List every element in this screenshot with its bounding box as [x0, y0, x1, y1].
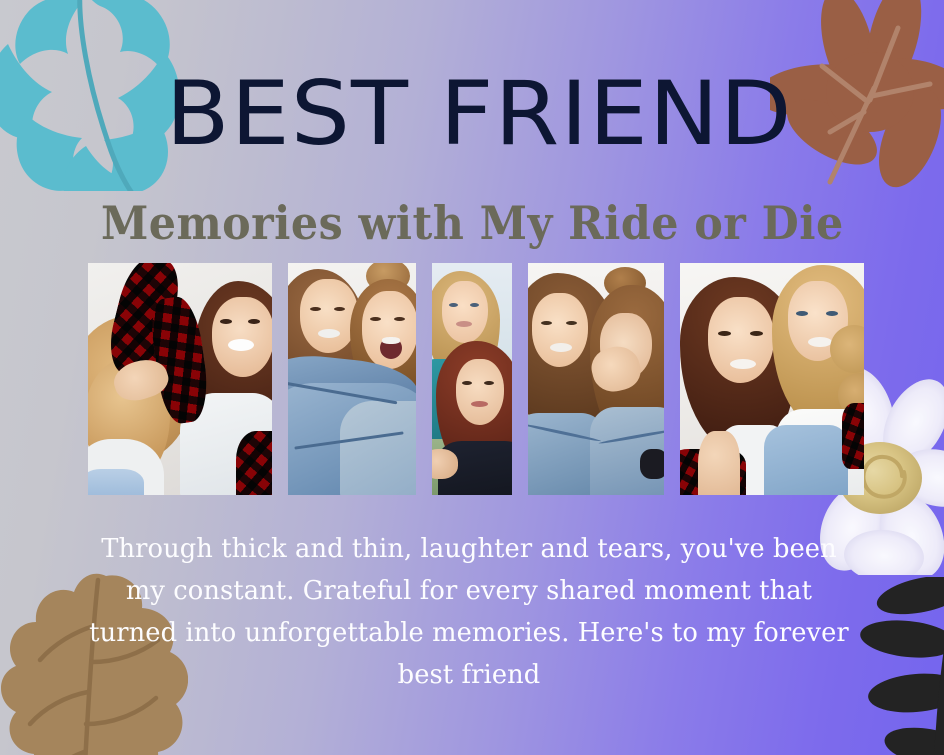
photo-item: Two friends in denim jackets laughing to…: [528, 263, 664, 495]
page-subtitle: Memories with My Ride or Die: [101, 199, 844, 247]
photo-item: Blonde and auburn haired friends outdoor…: [432, 263, 512, 495]
photo-item: Two friends hugging in denim jackets, on…: [288, 263, 416, 495]
photo-item: Brunette and blonde friends smiling chee…: [680, 263, 864, 495]
poster-canvas: BEST FRIEND Memories with My Ride or Die: [0, 0, 944, 755]
body-paragraph: Through thick and thin, laughter and tea…: [84, 528, 854, 696]
page-title: BEST FRIEND: [151, 72, 793, 156]
photo-strip: Two friends lying down laughing, red pla…: [88, 263, 856, 495]
subtitle-container: Memories with My Ride or Die: [0, 199, 944, 247]
black-leaves-icon: [844, 577, 944, 755]
title-container: BEST FRIEND: [0, 72, 944, 156]
photo-item: Two friends lying down laughing, red pla…: [88, 263, 272, 495]
